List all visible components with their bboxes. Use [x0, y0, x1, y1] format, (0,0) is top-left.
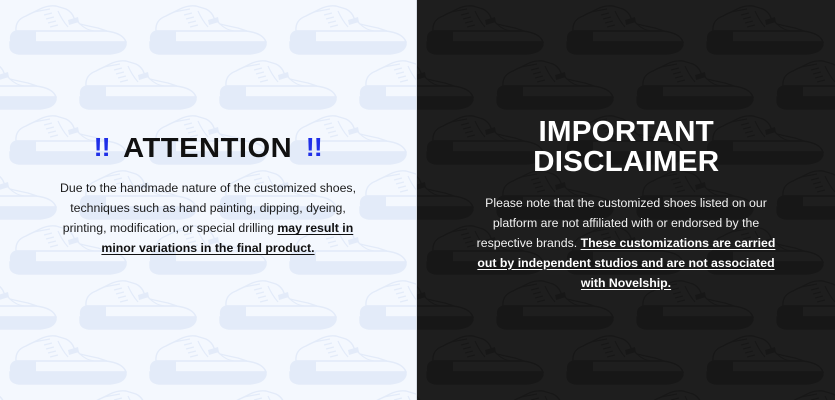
attention-body-text: Due to the handmade nature of the custom…: [58, 179, 358, 259]
attention-headline-word: ATTENTION: [123, 133, 292, 162]
exclamation-right-icon: !!: [306, 134, 322, 161]
attention-content: !! ATTENTION !! Due to the handmade natu…: [0, 0, 416, 259]
disclaimer-content: IMPORTANT DISCLAIMER Please note that th…: [417, 0, 835, 294]
disclaimer-headline-line-1: IMPORTANT: [533, 118, 719, 148]
disclaimer-body-text: Please note that the customized shoes li…: [466, 194, 786, 294]
disclaimer-banner: !! ATTENTION !! Due to the handmade natu…: [0, 0, 835, 400]
attention-panel: !! ATTENTION !! Due to the handmade natu…: [0, 0, 417, 400]
attention-headline: !! ATTENTION !!: [94, 133, 322, 162]
exclamation-left-icon: !!: [94, 134, 110, 161]
disclaimer-headline-line-2: DISCLAIMER: [533, 148, 719, 178]
disclaimer-panel: IMPORTANT DISCLAIMER Please note that th…: [417, 0, 835, 400]
disclaimer-headline: IMPORTANT DISCLAIMER: [533, 118, 719, 177]
